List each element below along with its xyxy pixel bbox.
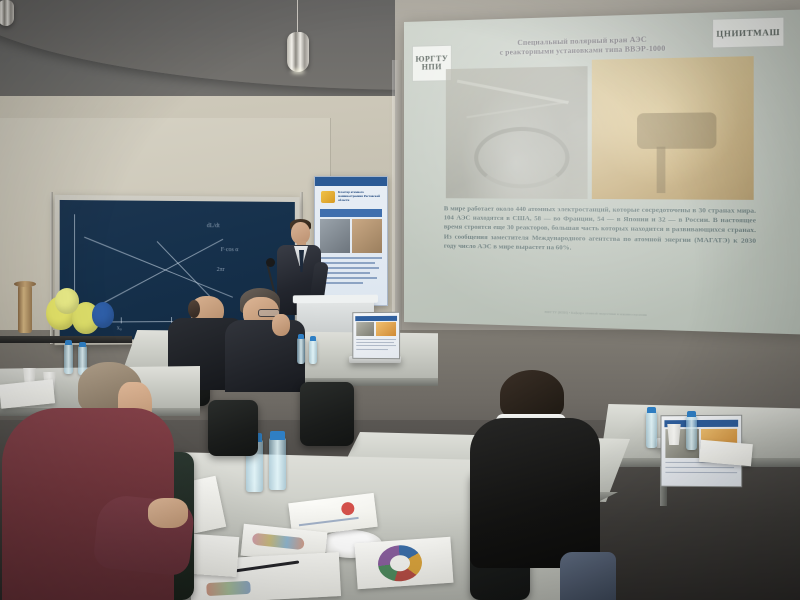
banner-header-bar bbox=[315, 177, 387, 186]
laptop-slide-textline bbox=[665, 467, 733, 468]
laptop-slide-textline bbox=[665, 472, 737, 473]
attendee-bald-man-hairfringe bbox=[188, 300, 200, 318]
water-bottle[interactable] bbox=[646, 412, 657, 448]
chalk-tick bbox=[121, 317, 122, 323]
banner-title: Кластер атомного машиностроения Ростовск… bbox=[338, 190, 383, 203]
bottle-cap bbox=[79, 342, 86, 347]
laptop-slide-textline bbox=[356, 348, 388, 349]
banner-logo-icon bbox=[321, 191, 335, 203]
brochure-graphic-red bbox=[341, 501, 355, 515]
water-bottle[interactable] bbox=[269, 438, 286, 490]
laptop-slide-textline bbox=[356, 342, 394, 343]
chair-back-row bbox=[300, 382, 354, 446]
microphone-icon bbox=[266, 258, 275, 267]
vase-rim bbox=[14, 281, 36, 287]
chalk-annotation-4: x₀ bbox=[117, 325, 122, 331]
laptop-slide-titlebar bbox=[355, 316, 397, 321]
chalk-annotation-1: dL/dt bbox=[207, 223, 220, 229]
laptop-slide-textline bbox=[356, 345, 396, 346]
vase bbox=[18, 283, 32, 333]
banner-photo-2 bbox=[352, 219, 382, 253]
chalk-annotation-2: F·cos α bbox=[221, 247, 239, 253]
banner-bullet bbox=[320, 262, 375, 264]
bottle-cap bbox=[687, 411, 696, 417]
lamp-cord-icon bbox=[297, 0, 298, 32]
slide-logo-right: ЦНИИТМАШ bbox=[712, 17, 785, 49]
lamp-shade-icon bbox=[287, 32, 309, 72]
slide-title: Специальный полярный кран АЭС с реакторн… bbox=[452, 34, 718, 59]
balloon-yellow-3 bbox=[55, 288, 79, 314]
laptop-screen-mid[interactable] bbox=[352, 312, 400, 359]
banner-bullet bbox=[320, 267, 379, 269]
attendee-front-right-hair bbox=[500, 370, 564, 420]
attendee-front-left-hand bbox=[148, 498, 188, 528]
banner-accent-strip bbox=[320, 209, 382, 217]
laptop-slide-textline bbox=[356, 339, 396, 340]
photo-crane-column bbox=[657, 147, 666, 193]
bottle-cap bbox=[270, 431, 285, 440]
chalk-annotation-3: 2πr bbox=[217, 267, 225, 273]
water-bottle[interactable] bbox=[309, 340, 317, 364]
bottle-cap bbox=[65, 340, 72, 345]
water-bottle[interactable] bbox=[297, 338, 305, 364]
banner-bullet bbox=[320, 277, 377, 279]
conference-room-photo: ЮРГТУ НПИ ЦНИИТМАШ Специальный полярный … bbox=[0, 0, 800, 600]
podium-top-surface bbox=[293, 295, 378, 304]
banner-photo-1 bbox=[320, 219, 350, 253]
attendee-front-right-torso bbox=[470, 418, 600, 568]
paper-print-graphic bbox=[206, 581, 251, 596]
slide-body-text: В мире работает около 440 атомных электр… bbox=[444, 204, 756, 255]
lamp-glow bbox=[291, 69, 305, 74]
photo-beam-line bbox=[457, 80, 569, 105]
photo-beam-line bbox=[466, 101, 569, 119]
paper-sheet[interactable] bbox=[699, 440, 753, 466]
water-bottle[interactable] bbox=[686, 416, 697, 450]
attendee-front-right-jeans bbox=[560, 552, 616, 600]
projection-screen: ЮРГТУ НПИ ЦНИИТМАШ Специальный полярный … bbox=[404, 9, 800, 334]
laptop-slide-photo-right bbox=[376, 322, 396, 336]
balloon-blue bbox=[92, 302, 114, 328]
slide-photo-crane-assembly bbox=[592, 56, 754, 200]
bottle-cap bbox=[310, 336, 316, 341]
banner-bullet bbox=[320, 257, 382, 259]
bottle-cap bbox=[298, 334, 304, 339]
banner-photo-row bbox=[320, 219, 382, 253]
water-bottle[interactable] bbox=[64, 344, 73, 374]
laptop-slide-photo-left bbox=[356, 322, 374, 335]
lamp-shade-icon bbox=[0, 0, 14, 26]
brochure-circular-chart[interactable] bbox=[355, 537, 454, 590]
slide-footer-text: ЮРГТУ (НПИ) • Кафедра атомной энергетики… bbox=[444, 307, 756, 320]
slide-photo-reactor-hall bbox=[446, 66, 588, 199]
photo-crane-body bbox=[637, 112, 716, 149]
photo-reactor-ring bbox=[474, 126, 569, 188]
chair-back-row bbox=[208, 400, 258, 456]
banner-bullet-list bbox=[320, 257, 382, 287]
bottle-cap bbox=[647, 407, 656, 413]
attendee-glasses-man-hand bbox=[272, 314, 290, 336]
brochure-graphic-line bbox=[299, 517, 359, 526]
brochure-graphic-multicolor bbox=[252, 533, 305, 550]
attendee-glasses-man-torso bbox=[225, 320, 305, 392]
banner-bullet bbox=[320, 282, 363, 284]
